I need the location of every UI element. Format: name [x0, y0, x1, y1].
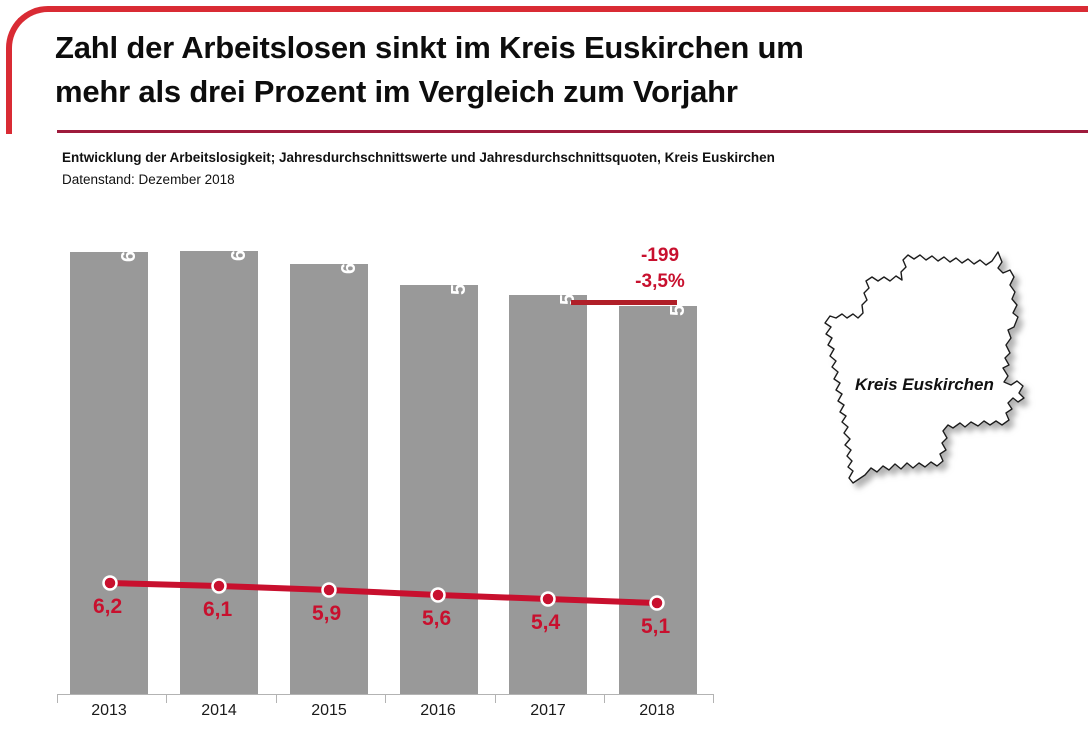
x-axis-label-2016: 2016 [383, 702, 493, 720]
rate-value-2017: 5,4 [531, 611, 560, 635]
rate-marker-2016 [432, 589, 445, 602]
district-map-label: Kreis Euskirchen [855, 375, 1085, 395]
rate-value-2015: 5,9 [312, 602, 341, 626]
rate-marker-2013 [104, 577, 117, 590]
rate-marker-2014 [213, 580, 226, 593]
rate-marker-2015 [323, 584, 336, 597]
x-axis-label-2013: 2013 [54, 702, 164, 720]
rate-marker-2017 [542, 593, 555, 606]
x-axis-label-2014: 2014 [164, 702, 274, 720]
chart-plot-area: 6.192 6.200 6.088 5.838 5.715 5.516 -199… [0, 0, 760, 729]
x-axis-label-2017: 2017 [493, 702, 603, 720]
district-map: Kreis Euskirchen [795, 235, 1080, 520]
rate-polyline [110, 583, 657, 603]
unemployment-chart: 6.192 6.200 6.088 5.838 5.715 5.516 -199… [0, 0, 760, 729]
x-axis-tick-6 [713, 694, 714, 703]
x-axis-label-2018: 2018 [602, 702, 712, 720]
x-axis-label-2015: 2015 [274, 702, 384, 720]
rate-value-2016: 5,6 [422, 607, 451, 631]
district-outline-path [825, 252, 1024, 483]
rate-value-2014: 6,1 [203, 598, 232, 622]
rate-value-2013: 6,2 [93, 595, 122, 619]
rate-value-2018: 5,1 [641, 615, 670, 639]
rate-marker-2018 [651, 597, 664, 610]
